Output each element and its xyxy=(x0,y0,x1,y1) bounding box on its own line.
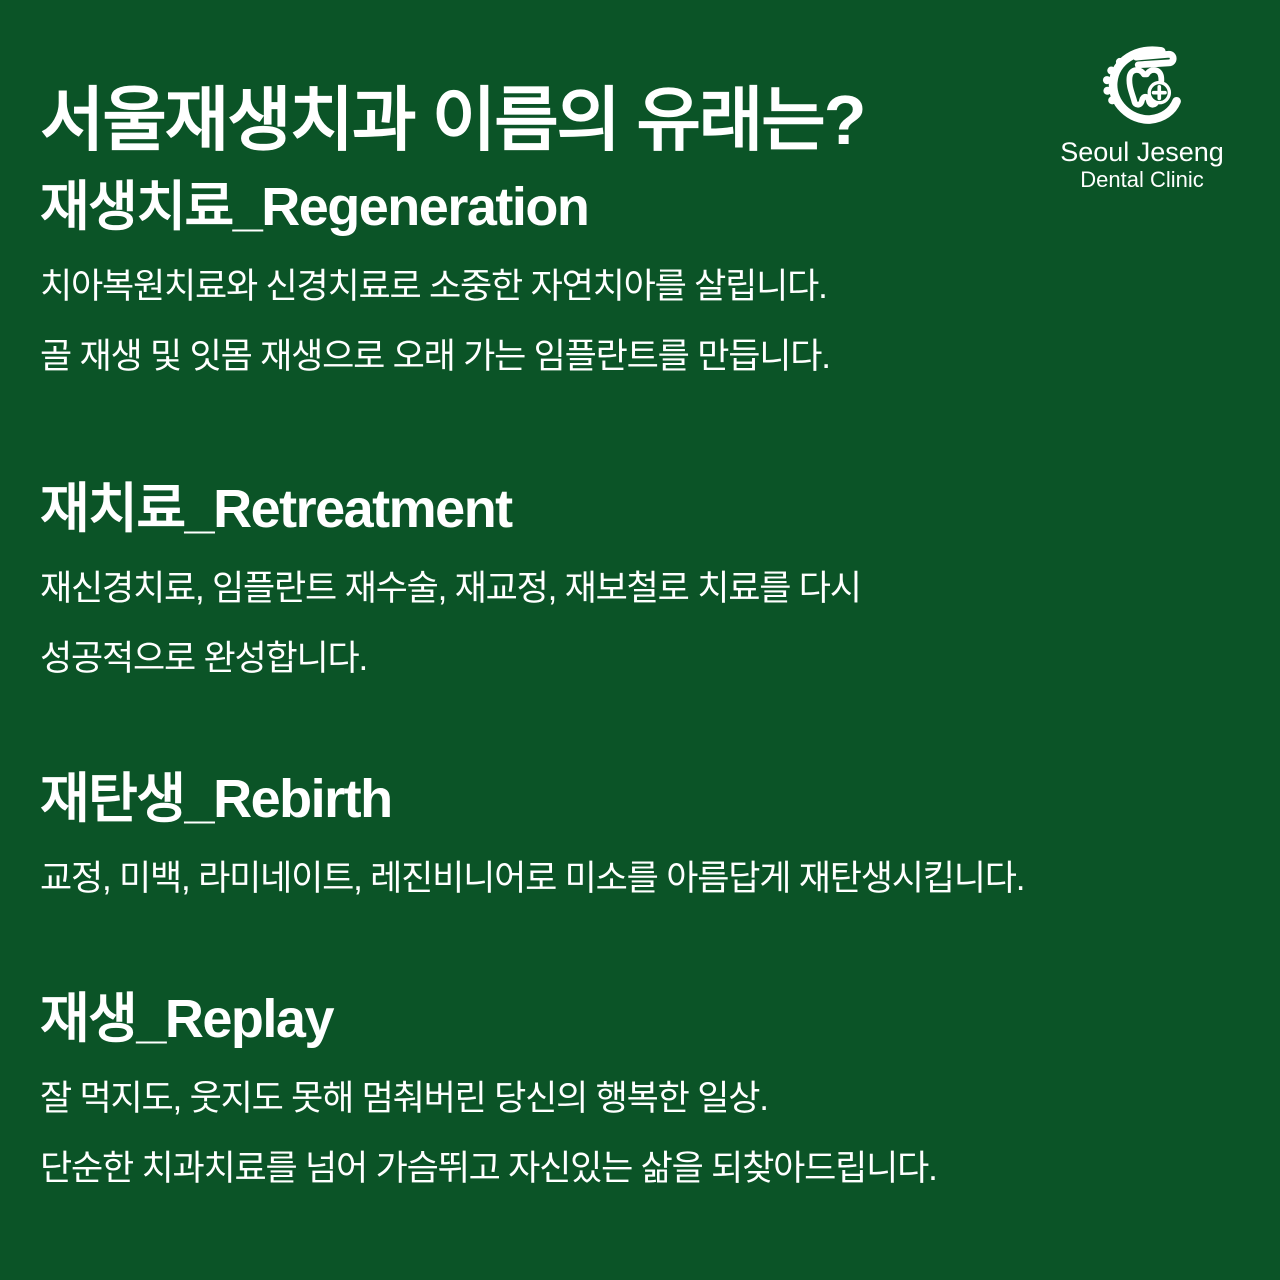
section-body: 재신경치료, 임플란트 재수술, 재교정, 재보철로 치료를 다시 성공적으로 … xyxy=(40,571,1252,676)
section-rebirth: 재탄생_Rebirth 교정, 미백, 라미네이트, 레진비니어로 미소를 아름… xyxy=(40,772,1252,896)
body-line: 잘 먹지도, 웃지도 못해 멈춰버린 당신의 행복한 일상. xyxy=(40,1081,1252,1116)
body-line: 단순한 치과치료를 넘어 가슴뛰고 자신있는 삶을 되찾아드립니다. xyxy=(40,1151,1252,1186)
section-body: 잘 먹지도, 웃지도 못해 멈춰버린 당신의 행복한 일상. 단순한 치과치료를… xyxy=(40,1081,1252,1186)
tooth-jaw-c-logo-icon xyxy=(1094,36,1190,132)
section-regeneration: 재생치료_Regeneration 치아복원치료와 신경치료로 소중한 자연치아… xyxy=(40,180,1252,374)
body-line: 치아복원치료와 신경치료로 소중한 자연치아를 살립니다. xyxy=(40,269,1252,304)
page-title: 서울재생치과 이름의 유래는? xyxy=(40,85,864,155)
section-heading: 재생_Replay xyxy=(40,992,1252,1046)
section-replay: 재생_Replay 잘 먹지도, 웃지도 못해 멈춰버린 당신의 행복한 일상.… xyxy=(40,992,1252,1186)
section-heading: 재치료_Retreatment xyxy=(40,482,1252,536)
section-heading: 재생치료_Regeneration xyxy=(40,180,1252,234)
body-line: 골 재생 및 잇몸 재생으로 오래 가는 임플란트를 만듭니다. xyxy=(40,339,1252,374)
section-heading: 재탄생_Rebirth xyxy=(40,772,1252,826)
promo-card: 서울재생치과 이름의 유래는? xyxy=(0,0,1280,1280)
body-line: 재신경치료, 임플란트 재수술, 재교정, 재보철로 치료를 다시 xyxy=(40,571,1252,606)
section-body: 치아복원치료와 신경치료로 소중한 자연치아를 살립니다. 골 재생 및 잇몸 … xyxy=(40,269,1252,374)
section-body: 교정, 미백, 라미네이트, 레진비니어로 미소를 아름답게 재탄생시킵니다. xyxy=(40,861,1252,896)
body-line: 교정, 미백, 라미네이트, 레진비니어로 미소를 아름답게 재탄생시킵니다. xyxy=(40,861,1252,896)
logo-clinic-name: Seoul Jeseng xyxy=(1060,138,1224,167)
clinic-logo: Seoul Jeseng Dental Clinic xyxy=(1042,36,1242,192)
body-line: 성공적으로 완성합니다. xyxy=(40,641,1252,676)
section-retreatment: 재치료_Retreatment 재신경치료, 임플란트 재수술, 재교정, 재보… xyxy=(40,482,1252,676)
card-header: 서울재생치과 이름의 유래는? xyxy=(0,0,1280,180)
